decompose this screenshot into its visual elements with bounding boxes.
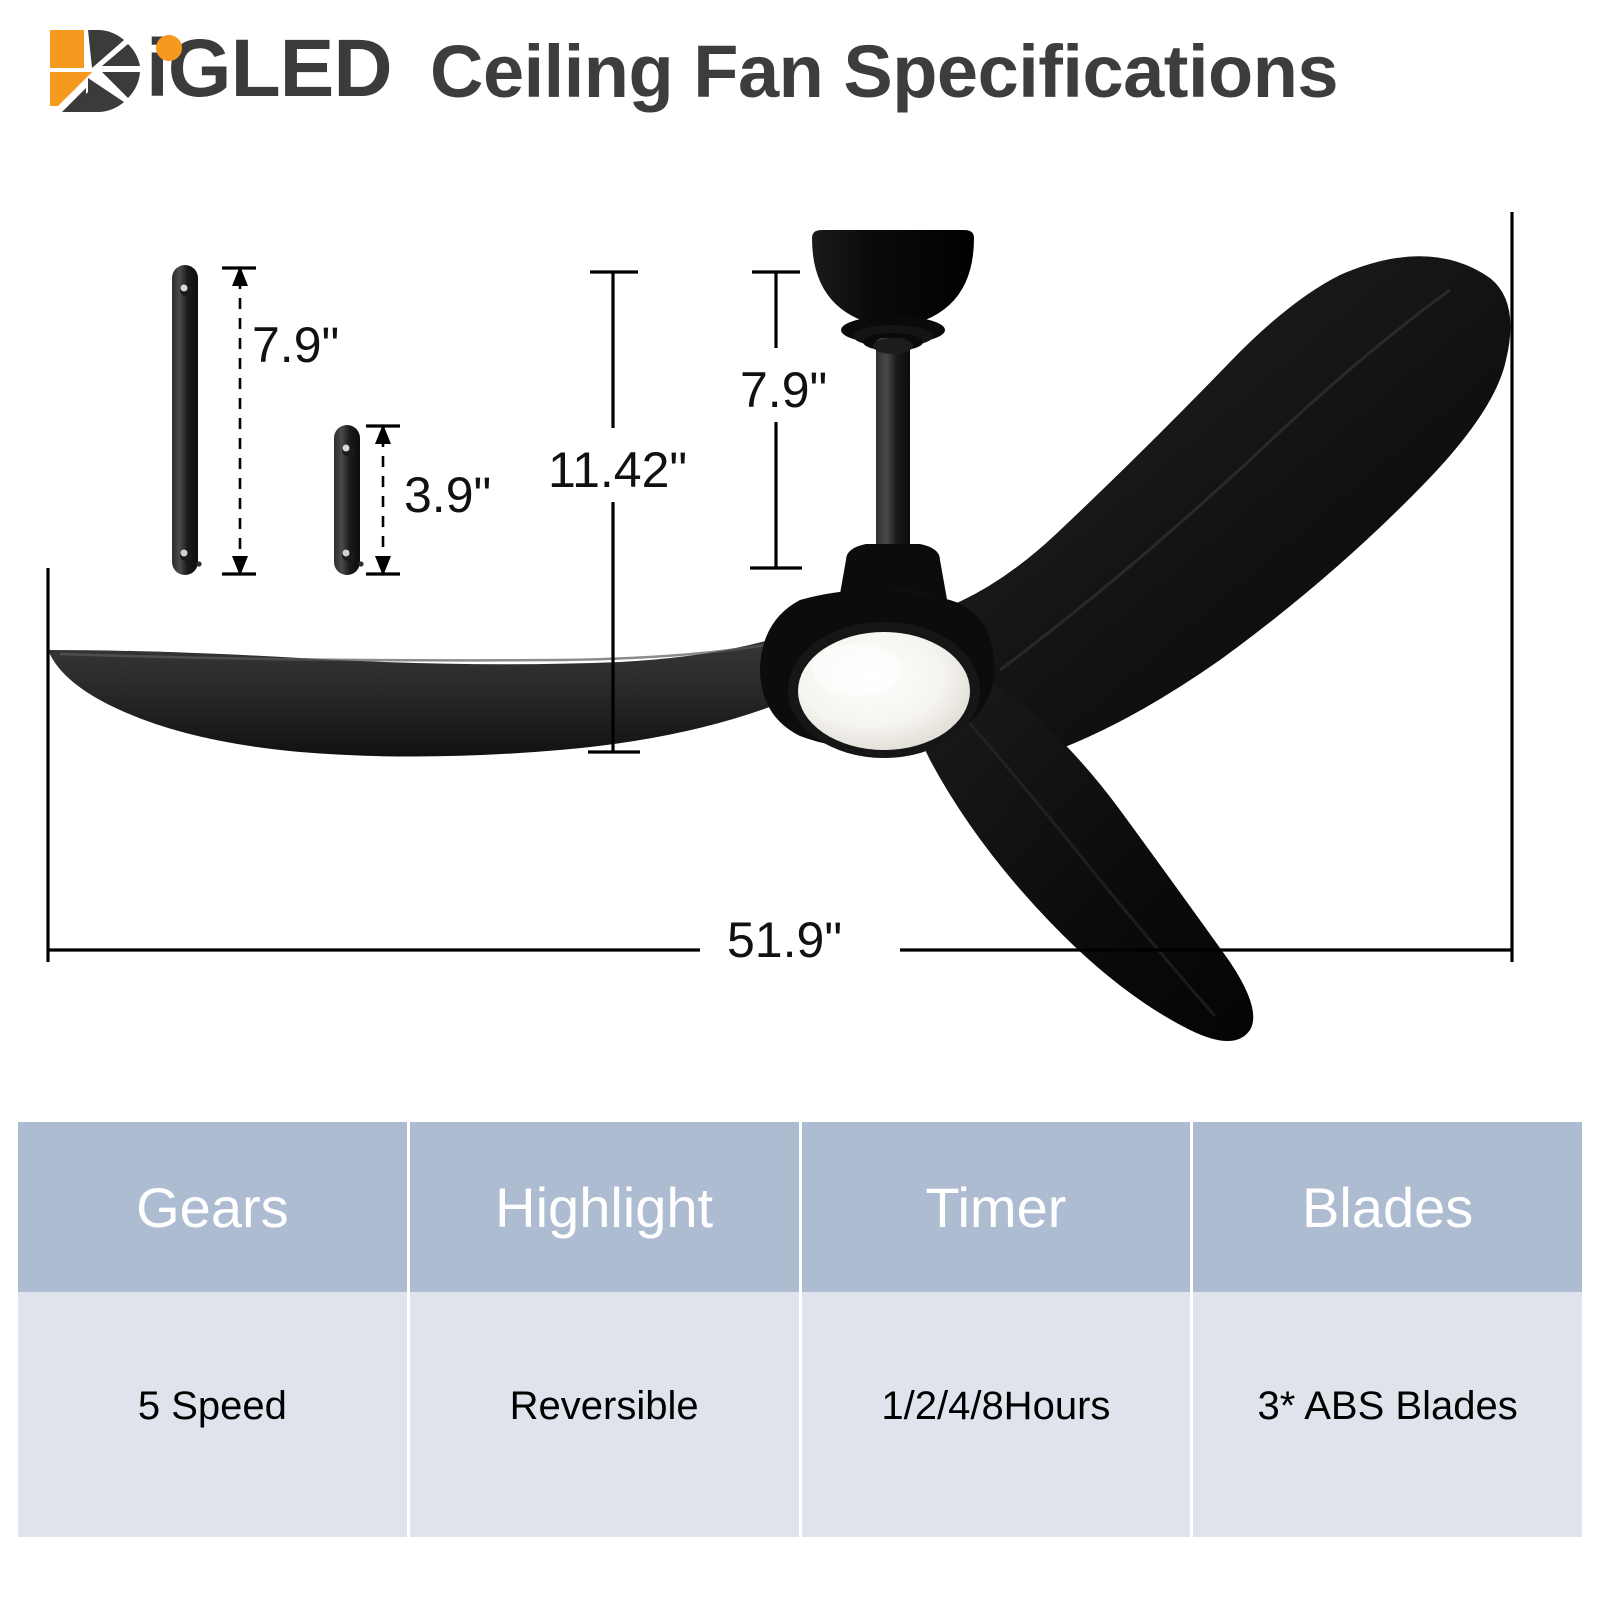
- table-header-row: Gears Highlight Timer Blades: [18, 1122, 1582, 1292]
- dim-label-downrod-short: 3.9": [404, 470, 491, 520]
- brand-logo: iGLED: [48, 25, 418, 120]
- table-header-gears: Gears: [18, 1122, 410, 1292]
- dim-label-fan-height: 11.42": [548, 445, 687, 495]
- dim-label-blade-span: 51.9": [727, 915, 842, 965]
- table-header-blades: Blades: [1193, 1122, 1582, 1292]
- table-header-timer: Timer: [802, 1122, 1194, 1292]
- product-dimension-diagram: 7.9" 3.9" 11.42" 7.9" 51.9": [0, 150, 1600, 1060]
- specification-table: Gears Highlight Timer Blades 5 Speed Rev…: [18, 1122, 1582, 1537]
- table-cell-highlight: Reversible: [410, 1292, 802, 1537]
- table-header-highlight: Highlight: [410, 1122, 802, 1292]
- table-cell-gears: 5 Speed: [18, 1292, 410, 1537]
- table-row: 5 Speed Reversible 1/2/4/8Hours 3* ABS B…: [18, 1292, 1582, 1537]
- page-header: iGLED Ceiling Fan Specifications: [0, 0, 1600, 150]
- brand-i-dot-icon: [152, 31, 186, 65]
- table-cell-blades: 3* ABS Blades: [1193, 1292, 1582, 1537]
- page-title: Ceiling Fan Specifications: [430, 18, 1338, 126]
- dim-label-downrod-long: 7.9": [252, 320, 339, 370]
- table-cell-timer: 1/2/4/8Hours: [802, 1292, 1194, 1537]
- digled-aperture-logo-icon: [48, 28, 148, 116]
- dim-label-drop-height: 7.9": [740, 365, 827, 415]
